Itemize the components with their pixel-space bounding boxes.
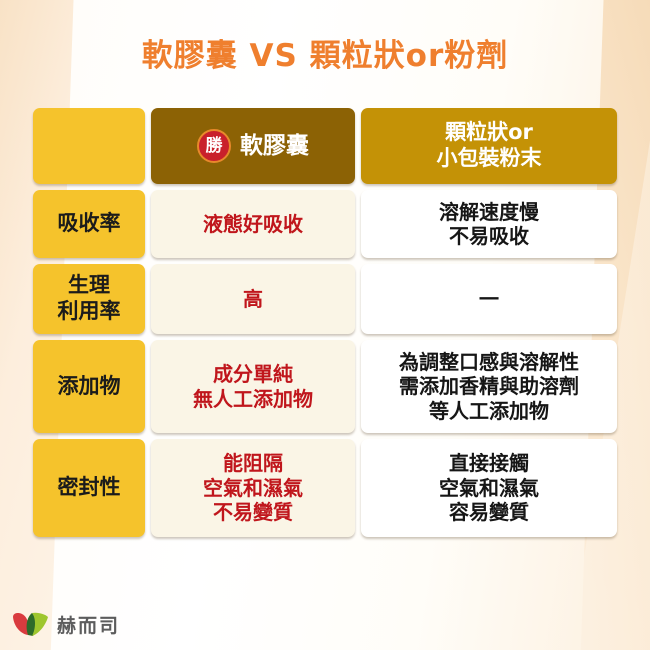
row-value-line: 無人工添加物 [193, 387, 313, 411]
row-label-absorption: 吸收率 [33, 190, 145, 258]
footer-brand: 赫而司 [12, 611, 120, 638]
header-cell-softgel: 勝 軟膠囊 [151, 108, 355, 184]
table-row: 密封性 能阻隔 空氣和濕氣 不易變質 直接接觸 空氣和濕氣 容易變質 [33, 439, 617, 537]
row-value-line: 成分單純 [193, 362, 313, 386]
header-softgel-label: 軟膠囊 [240, 132, 309, 160]
table-header-row: 勝 軟膠囊 顆粒狀or 小包裝粉末 [33, 108, 617, 184]
row-value-line: 液態好吸收 [203, 212, 303, 236]
header-granule-line-1: 顆粒狀or [437, 120, 542, 146]
row-value-line: 能阻隔 [203, 451, 303, 475]
row-label-line: 密封性 [58, 475, 121, 501]
row-value-line: 等人工添加物 [399, 399, 579, 423]
table-row: 添加物 成分單純 無人工添加物 為調整口感與溶解性 需添加香精與助溶劑 等人工添… [33, 340, 617, 433]
row-value-softgel-sealing: 能阻隔 空氣和濕氣 不易變質 [151, 439, 355, 537]
table-row: 生理 利用率 高 一 [33, 264, 617, 334]
row-label-line: 吸收率 [58, 211, 121, 237]
row-value-line: 為調整口感與溶解性 [399, 350, 579, 374]
comparison-table: 勝 軟膠囊 顆粒狀or 小包裝粉末 吸收率 液態好吸收 溶解速度慢 不易 [33, 108, 617, 537]
infographic-page: 軟膠囊 VS 顆粒狀or粉劑 勝 軟膠囊 顆粒狀or 小包裝粉末 吸收率 液態好… [0, 0, 650, 650]
row-value-line: 一 [479, 287, 499, 311]
header-blank-cell [33, 108, 145, 184]
page-title: 軟膠囊 VS 顆粒狀or粉劑 [0, 36, 650, 76]
leaf-logo-icon [12, 612, 50, 638]
row-value-line: 不易吸收 [439, 224, 539, 248]
row-label-line: 利用率 [58, 299, 121, 325]
row-value-granule-sealing: 直接接觸 空氣和濕氣 容易變質 [361, 439, 617, 537]
row-value-line: 直接接觸 [439, 451, 539, 475]
row-value-line: 溶解速度慢 [439, 200, 539, 224]
header-granule-line-2: 小包裝粉末 [437, 146, 542, 172]
row-label-additives: 添加物 [33, 340, 145, 433]
row-value-line: 需添加香精與助溶劑 [399, 374, 579, 398]
row-value-line: 空氣和濕氣 [203, 476, 303, 500]
row-value-line: 不易變質 [203, 500, 303, 524]
row-value-line: 容易變質 [439, 500, 539, 524]
row-value-softgel-additives: 成分單純 無人工添加物 [151, 340, 355, 433]
row-label-line: 生理 [58, 273, 121, 299]
row-value-line: 空氣和濕氣 [439, 476, 539, 500]
row-value-softgel-absorption: 液態好吸收 [151, 190, 355, 258]
row-value-line: 高 [243, 287, 263, 311]
row-value-granule-absorption: 溶解速度慢 不易吸收 [361, 190, 617, 258]
row-value-granule-bioavailability: 一 [361, 264, 617, 334]
brand-name: 赫而司 [57, 611, 120, 638]
row-label-line: 添加物 [58, 374, 121, 400]
row-label-bioavailability: 生理 利用率 [33, 264, 145, 334]
table-row: 吸收率 液態好吸收 溶解速度慢 不易吸收 [33, 190, 617, 258]
row-value-granule-additives: 為調整口感與溶解性 需添加香精與助溶劑 等人工添加物 [361, 340, 617, 433]
row-value-softgel-bioavailability: 高 [151, 264, 355, 334]
header-cell-granule: 顆粒狀or 小包裝粉末 [361, 108, 617, 184]
row-label-sealing: 密封性 [33, 439, 145, 537]
win-medal-icon: 勝 [197, 129, 231, 163]
